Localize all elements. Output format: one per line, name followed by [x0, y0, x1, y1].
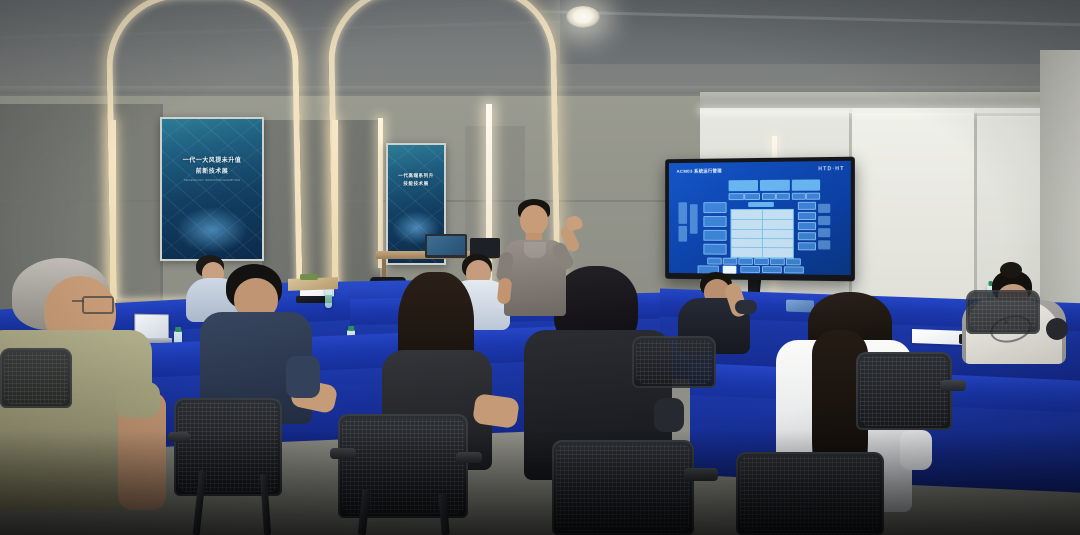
blind-rail: [700, 92, 1080, 108]
display-top-button[interactable]: [762, 193, 776, 200]
polo-collar: [524, 242, 546, 258]
display-bottom-button[interactable]: [723, 258, 738, 265]
display-bottom-button[interactable]: [750, 274, 774, 275]
display-left-button[interactable]: [703, 244, 726, 255]
display-left-button[interactable]: [703, 230, 726, 241]
display-bottom-button[interactable]: [754, 258, 769, 265]
display-bottom-button[interactable]: [770, 258, 785, 265]
display-bottom-button[interactable]: [738, 258, 753, 265]
display-data-table[interactable]: [731, 209, 794, 258]
display-ui-title: ACM03 系统运行管理: [677, 168, 722, 174]
foreground-shadow: [0, 430, 1080, 535]
display-header-cell[interactable]: [792, 179, 820, 190]
ceiling-downlight-icon: [566, 6, 600, 28]
display-table-title: [748, 202, 774, 207]
wall-light-strip: [378, 118, 383, 268]
conference-room-photo: 一代一大风提未升值 前新技术展 TECHNOLOGY INNOVATION EX…: [0, 0, 1080, 535]
poster-subline: 前新技术展: [162, 166, 262, 175]
display-screen[interactable]: ACM03 系统运行管理 HTD·HT: [669, 161, 851, 275]
back-monitor-screen: [427, 236, 465, 255]
display-header-cell[interactable]: [760, 180, 790, 191]
poster-headline: 一代一大风提未升值: [162, 155, 262, 164]
display-header-cell[interactable]: [729, 180, 758, 191]
display-right-button[interactable]: [798, 202, 816, 210]
display-top-button[interactable]: [729, 193, 745, 200]
office-chair[interactable]: [856, 352, 952, 430]
display-bottom-button[interactable]: [740, 266, 760, 273]
display-bottom-button[interactable]: [784, 266, 804, 273]
office-chair[interactable]: [966, 290, 1040, 334]
office-chair[interactable]: [0, 348, 72, 408]
display-right-button[interactable]: [798, 212, 816, 220]
display-left-button[interactable]: [678, 226, 687, 242]
green-pouch: [300, 274, 318, 280]
office-chair[interactable]: [632, 336, 716, 388]
display-bottom-button[interactable]: [725, 274, 748, 276]
display-top-button[interactable]: [776, 193, 790, 200]
display-brand-logo: HTD·HT: [818, 166, 844, 172]
eyeglasses: [82, 296, 114, 314]
display-top-button[interactable]: [792, 193, 806, 200]
handout-paper: [912, 329, 966, 345]
display-right-button[interactable]: [818, 204, 830, 213]
display-bottom-button[interactable]: [762, 266, 782, 273]
display-top-button[interactable]: [744, 193, 760, 200]
display-right-button[interactable]: [798, 222, 816, 230]
presentation-display[interactable]: ACM03 系统运行管理 HTD·HT: [665, 157, 855, 282]
display-right-button[interactable]: [818, 228, 830, 237]
display-right-button[interactable]: [818, 216, 830, 225]
display-right-button[interactable]: [798, 232, 816, 240]
display-bottom-field[interactable]: [723, 266, 737, 274]
display-bottom-button[interactable]: [707, 258, 722, 265]
display-right-button[interactable]: [798, 242, 816, 250]
poster-glow: [176, 207, 248, 253]
wall-poster-left: 一代一大风提未升值 前新技术展 TECHNOLOGY INNOVATION EX…: [160, 117, 264, 261]
display-left-button[interactable]: [678, 202, 687, 224]
display-bottom-button[interactable]: [786, 258, 801, 265]
display-left-button[interactable]: [690, 204, 698, 234]
ceiling-slab: [560, 0, 1080, 64]
poster-subline: 技能技术展: [388, 181, 444, 187]
display-top-button[interactable]: [806, 193, 820, 200]
laptop-closed: [296, 296, 326, 303]
poster-caption: TECHNOLOGY INNOVATION EXHIBITION: [162, 179, 262, 182]
poster-headline: 一代高端系列升: [388, 173, 444, 179]
display-right-button[interactable]: [818, 240, 830, 249]
blind-light-strip: [700, 108, 1080, 113]
chair-armrest: [940, 380, 966, 391]
eyeglasses-arm: [72, 300, 84, 302]
display-left-button[interactable]: [703, 202, 726, 213]
shirt-sleeve: [116, 382, 160, 418]
display-left-button[interactable]: [703, 216, 726, 227]
